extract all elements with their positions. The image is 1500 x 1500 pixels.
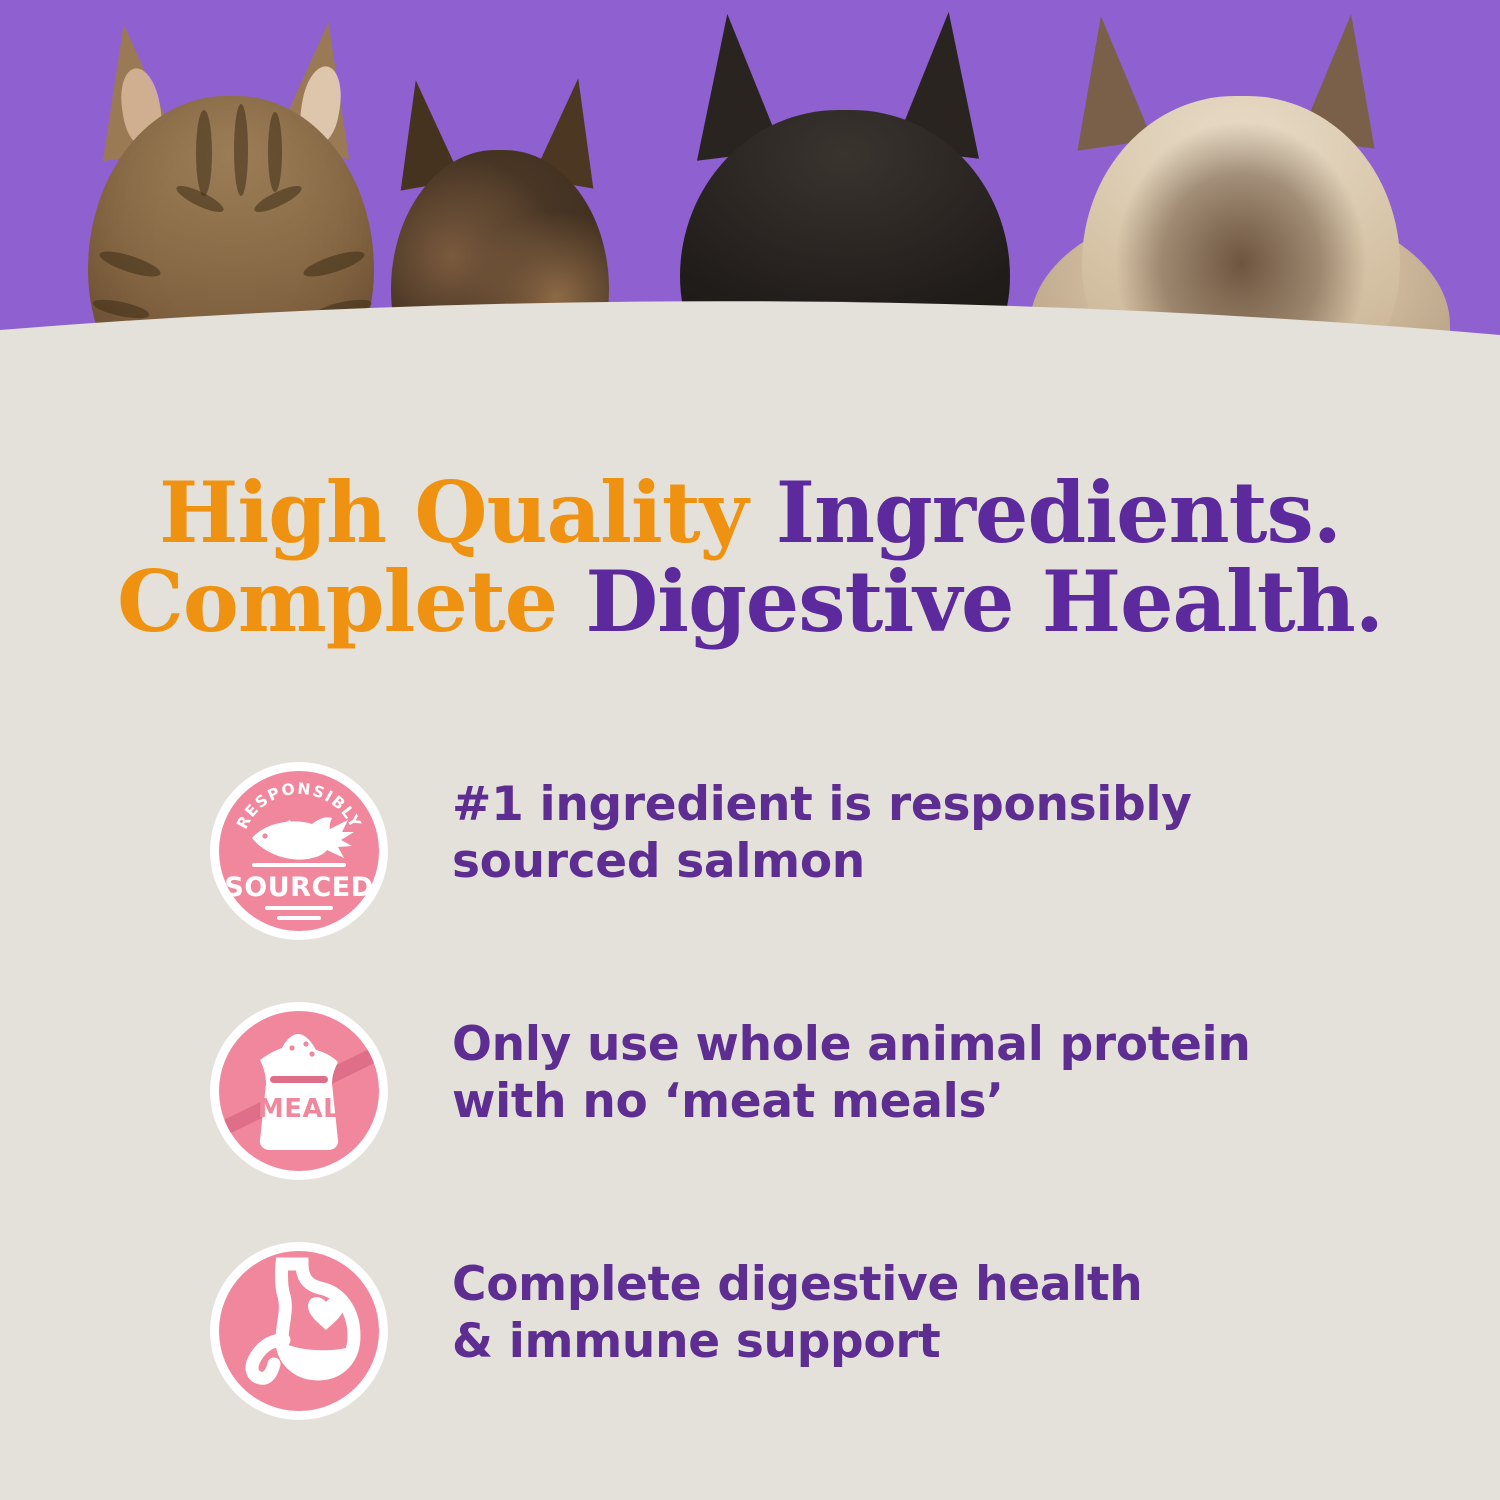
cat-face-blaze: [852, 402, 886, 430]
cat-head: [391, 150, 609, 418]
feature-text-line-1: #1 ingredient is responsibly: [452, 777, 1192, 832]
headline-line1-purple: Ingredients.: [776, 463, 1341, 562]
responsibly-sourced-fish-badge-icon: RESPONSIBLY SOURCED: [208, 760, 390, 942]
badge-bottom-text: MEAL: [258, 1094, 340, 1124]
feature-text-line-1: Only use whole animal protein: [452, 1017, 1251, 1072]
feature-list: RESPONSIBLY SOURCED #1 ingredien: [208, 758, 1408, 1478]
badge-bottom-text: SOURCED: [224, 872, 373, 903]
feature-text: Complete digestive health & immune suppo…: [452, 1256, 1408, 1371]
hero-cat-banner: [0, 0, 1500, 430]
feature-text-line-2: & immune support: [452, 1313, 1408, 1370]
cat-tortoiseshell: [375, 0, 625, 430]
feature-text-line-2: with no ‘meat meals’: [452, 1073, 1408, 1130]
feature-text-line-1: Complete digestive health: [452, 1257, 1142, 1312]
cat-tabby: [70, 0, 390, 430]
cat-head: [88, 96, 374, 430]
feature-text: Only use whole animal protein with no ‘m…: [452, 1016, 1408, 1131]
cat-eye-left: [433, 412, 483, 430]
cat-eye-right: [1300, 336, 1364, 394]
cat-eye-right: [521, 412, 571, 430]
no-meat-meal-sack-badge-icon: MEAL: [208, 1000, 390, 1182]
headline-line1-orange: High Quality: [159, 463, 776, 562]
list-item: Complete digestive health & immune suppo…: [208, 1238, 1408, 1478]
cat-ear-left-icon: [1059, 11, 1152, 150]
cat-eye-right: [256, 336, 318, 390]
cat-nose: [221, 418, 255, 430]
cat-eye-left: [148, 336, 210, 390]
cat-eye-left: [756, 348, 822, 408]
cat-head: [1082, 96, 1400, 418]
cat-tuxedo: [650, 0, 1040, 430]
list-item: MEAL Only use whole animal protein with …: [208, 998, 1408, 1238]
headline-line-2: Complete Digestive Health.: [0, 557, 1500, 646]
cat-seal-point: [1030, 0, 1450, 430]
headline-line2-purple: Digestive Health.: [585, 552, 1383, 651]
stomach-heart-digestive-badge-icon: [208, 1240, 390, 1422]
list-item: RESPONSIBLY SOURCED #1 ingredien: [208, 758, 1408, 998]
headline-line-1: High Quality Ingredients.: [0, 468, 1500, 557]
headline-line2-orange: Complete: [117, 552, 585, 651]
cat-nose: [1272, 418, 1306, 430]
cat-eye-left: [1180, 336, 1244, 394]
page-title: High Quality Ingredients. Complete Diges…: [0, 468, 1500, 646]
feature-text: #1 ingredient is responsibly sourced sal…: [452, 776, 1408, 891]
cat-head: [680, 110, 1010, 430]
feature-text-line-2: sourced salmon: [452, 833, 1408, 890]
product-feature-infographic: High Quality Ingredients. Complete Diges…: [0, 0, 1500, 1500]
cat-eye-right: [876, 348, 942, 408]
